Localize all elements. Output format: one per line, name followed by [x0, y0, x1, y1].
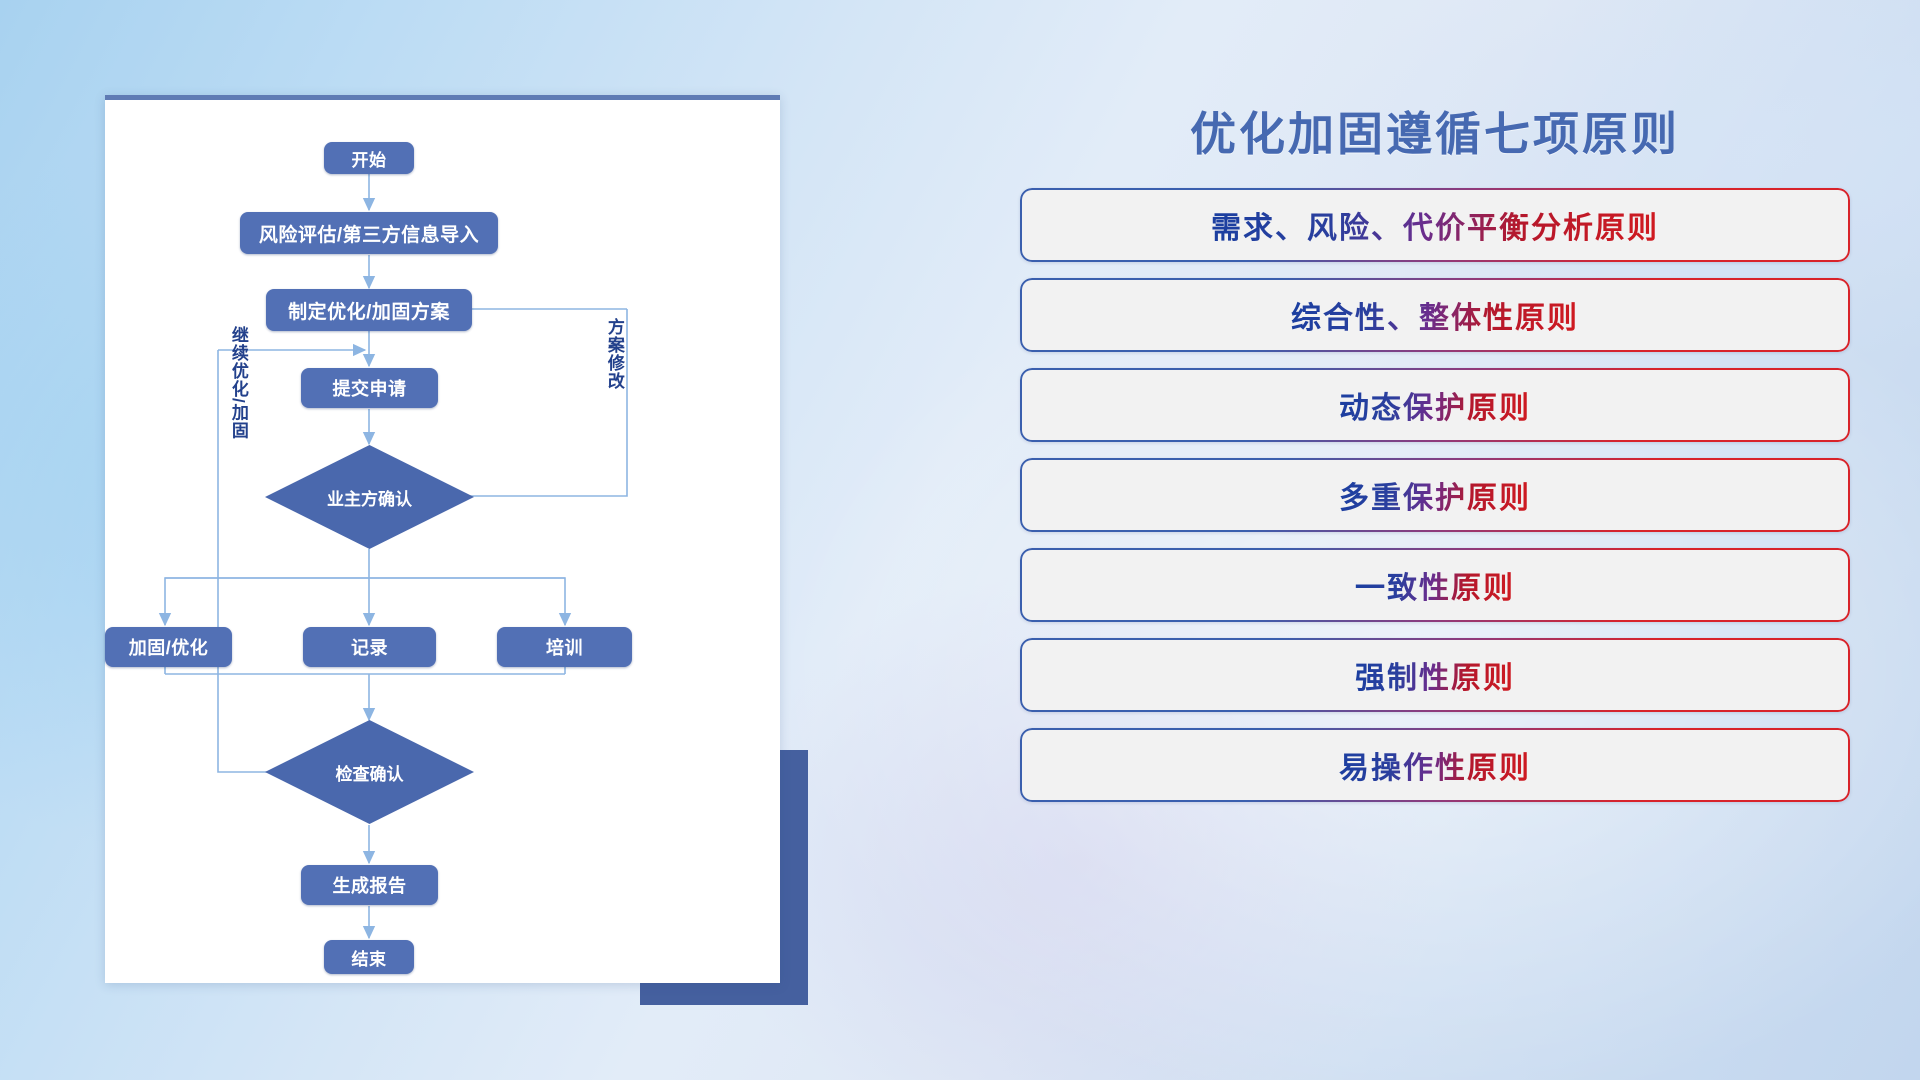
flow-node-submit-application[interactable]: 提交申请 [301, 368, 438, 408]
principles-list: 需求、风险、代价平衡分析原则 综合性、整体性原则 动态保护原则 多重保护原则 一… [1020, 188, 1850, 818]
principle-label: 一致性原则 [1355, 563, 1515, 607]
panel-title: 优化加固遵循七项原则 [1020, 98, 1850, 164]
flow-node-record[interactable]: 记录 [303, 627, 436, 667]
flow-edge-label-continue-optimize: 继续优化/加固 [229, 326, 247, 440]
flow-node-reinforce-optimize[interactable]: 加固/优化 [105, 627, 232, 667]
flow-node-generate-report[interactable]: 生成报告 [301, 865, 438, 905]
principle-label: 综合性、整体性原则 [1291, 293, 1579, 337]
flowchart-card: 开始 风险评估/第三方信息导入 制定优化/加固方案 提交申请 业主方确认 加固/… [105, 95, 780, 983]
flow-decision-check-confirm[interactable]: 检查确认 [265, 720, 474, 824]
flow-node-label: 业主方确认 [327, 485, 412, 510]
principle-item-6[interactable]: 强制性原则 [1020, 638, 1850, 712]
principle-item-7[interactable]: 易操作性原则 [1020, 728, 1850, 802]
principle-item-2[interactable]: 综合性、整体性原则 [1020, 278, 1850, 352]
flow-node-label: 制定优化/加固方案 [288, 297, 450, 324]
principle-label: 需求、风险、代价平衡分析原则 [1211, 203, 1659, 247]
flow-node-label: 结束 [352, 945, 387, 970]
flow-node-label: 培训 [546, 634, 583, 660]
flow-node-end[interactable]: 结束 [324, 940, 414, 974]
principle-label: 强制性原则 [1355, 653, 1515, 697]
principle-item-4[interactable]: 多重保护原则 [1020, 458, 1850, 532]
principle-label: 动态保护原则 [1339, 383, 1531, 427]
flow-node-risk-assessment[interactable]: 风险评估/第三方信息导入 [240, 212, 498, 254]
flow-node-label: 提交申请 [333, 375, 407, 401]
flow-decision-owner-confirm[interactable]: 业主方确认 [265, 445, 474, 549]
flow-node-label: 生成报告 [333, 872, 407, 898]
flow-node-label: 加固/优化 [129, 634, 209, 660]
principle-item-3[interactable]: 动态保护原则 [1020, 368, 1850, 442]
principle-label: 易操作性原则 [1339, 743, 1531, 787]
flow-node-plan[interactable]: 制定优化/加固方案 [266, 289, 472, 331]
flow-node-training[interactable]: 培训 [497, 627, 632, 667]
principle-item-1[interactable]: 需求、风险、代价平衡分析原则 [1020, 188, 1850, 262]
flow-edge-label-plan-revision: 方案修改 [605, 318, 623, 390]
principle-item-5[interactable]: 一致性原则 [1020, 548, 1850, 622]
principle-label: 多重保护原则 [1339, 473, 1531, 517]
flow-node-label: 检查确认 [336, 760, 404, 785]
flow-node-label: 风险评估/第三方信息导入 [259, 220, 479, 247]
flow-node-label: 记录 [351, 634, 388, 660]
flow-node-label: 开始 [352, 146, 387, 171]
principles-panel: 优化加固遵循七项原则 需求、风险、代价平衡分析原则 综合性、整体性原则 动态保护… [1020, 80, 1850, 1020]
flowchart-diagram: 开始 风险评估/第三方信息导入 制定优化/加固方案 提交申请 业主方确认 加固/… [105, 100, 780, 983]
flow-node-start[interactable]: 开始 [324, 142, 414, 174]
